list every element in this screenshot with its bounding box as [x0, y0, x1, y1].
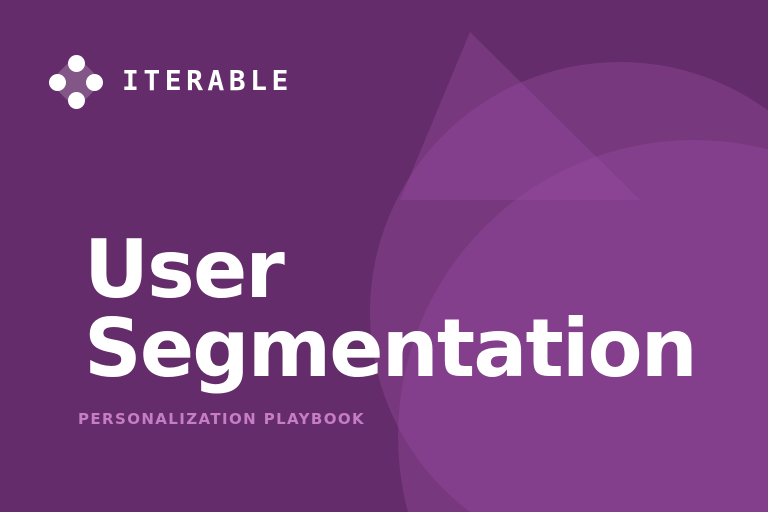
iterable-diamond-logo-icon [46, 52, 106, 112]
page-title: User Segmentation [84, 230, 696, 388]
page-title-line-2: Segmentation [84, 309, 696, 388]
logo-dot-bottom [68, 92, 85, 109]
logo-dot-left [49, 74, 66, 91]
logo-dot-top [68, 55, 85, 72]
page-title-line-1: User [84, 230, 696, 309]
brand-wordmark: ITERABLE [122, 67, 293, 97]
decorative-triangle [400, 32, 640, 200]
page-subtitle: PERSONALIZATION PLAYBOOK [78, 412, 365, 427]
logo-dot-right [86, 74, 103, 91]
cover-artwork: ITERABLE User Segmentation PERSONALIZATI… [0, 0, 768, 512]
brand-logo-lockup: ITERABLE [46, 55, 293, 109]
